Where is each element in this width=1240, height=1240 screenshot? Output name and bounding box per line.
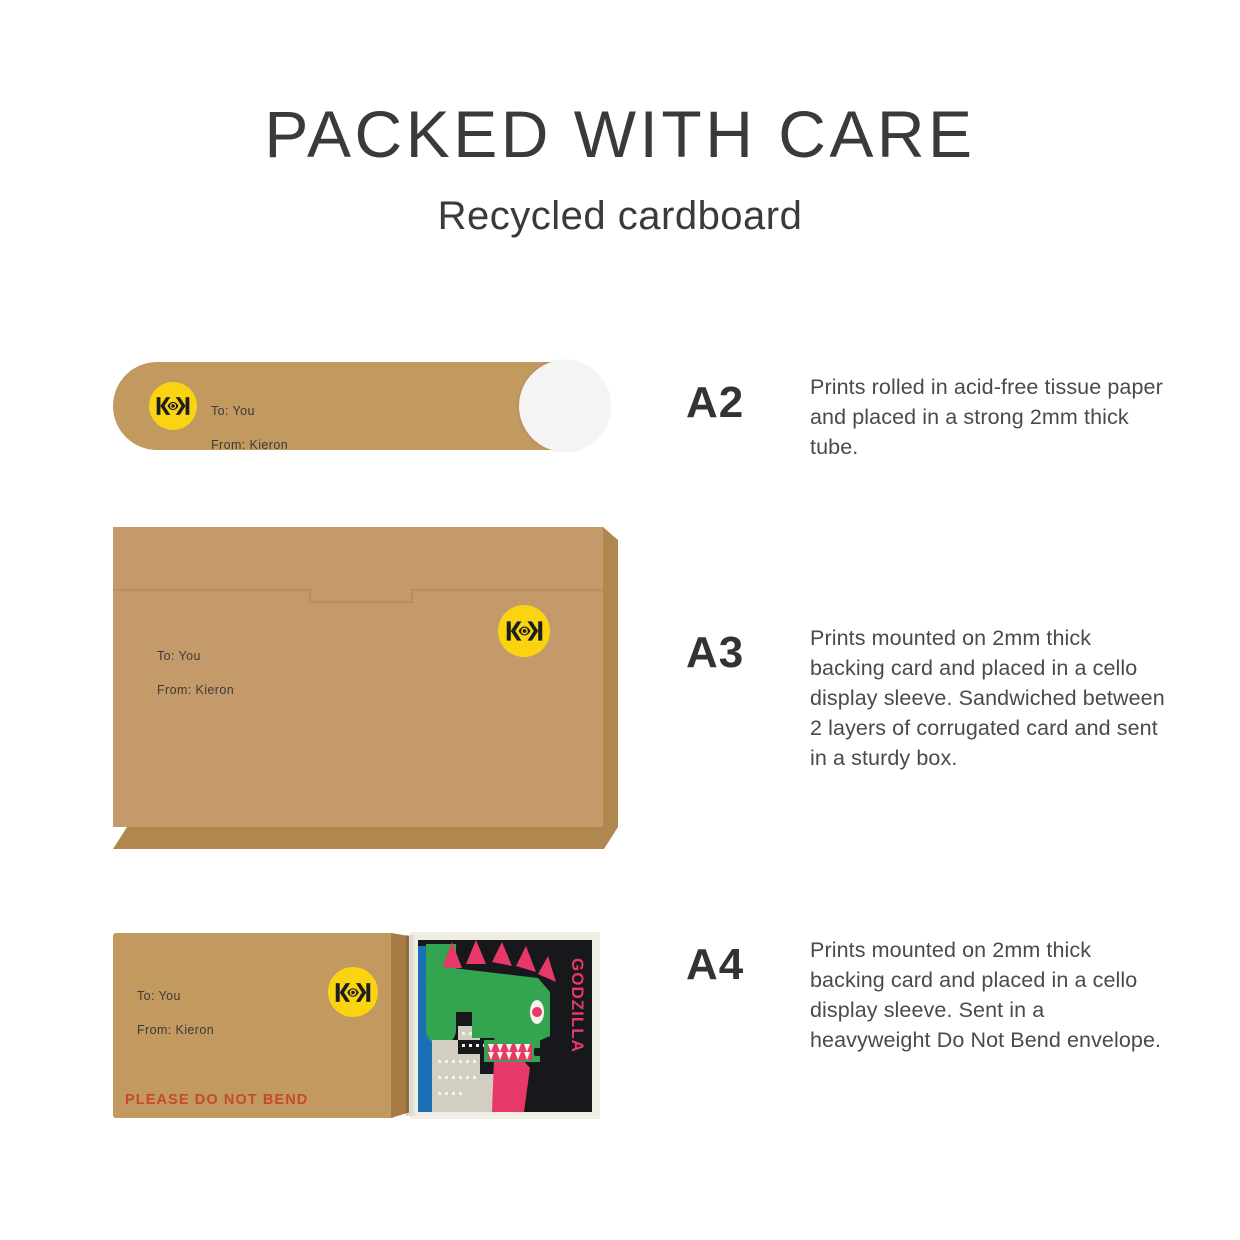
address-to: To: You (157, 649, 201, 663)
address-to: To: You (211, 404, 255, 418)
logo-sticker (328, 967, 378, 1017)
page-subtitle: Recycled cardboard (0, 172, 1240, 239)
page-title: PACKED WITH CARE (0, 0, 1240, 172)
size-label-a4: A4 (686, 940, 744, 990)
page-header: PACKED WITH CARE Recycled cardboard (0, 0, 1240, 239)
box-bottom-edge (113, 827, 618, 849)
nostril (534, 1048, 541, 1056)
envelope-drop-shadow (406, 935, 416, 1116)
do-not-bend-warning: PLEASE DO NOT BEND (125, 1092, 308, 1108)
box-flap-score-line (113, 589, 603, 603)
description-a3: Prints mounted on 2mm thick backing card… (810, 623, 1170, 773)
kok-monogram-icon (335, 981, 371, 1004)
size-label-a2: A2 (686, 378, 744, 428)
address-from: From: Kieron (211, 438, 288, 452)
logo-sticker (498, 605, 550, 657)
kok-monogram-icon (506, 619, 543, 643)
package-illustration-envelope: GODZILLA To: You From: Kieron (113, 933, 603, 1128)
godzilla-pupil (532, 1007, 542, 1017)
poster-title-text: GODZILLA (568, 958, 587, 1053)
size-label-a3: A3 (686, 628, 744, 678)
address-block-a2: To: You From: Kieron (211, 386, 288, 454)
description-a2: Prints rolled in acid-free tissue paper … (810, 372, 1170, 462)
description-a4: Prints mounted on 2mm thick backing card… (810, 935, 1170, 1055)
address-to: To: You (137, 989, 181, 1003)
address-block-a4: To: You From: Kieron (137, 971, 214, 1039)
address-block-a3: To: You From: Kieron (157, 631, 234, 699)
address-from: From: Kieron (137, 1023, 214, 1037)
kok-monogram-icon (156, 395, 190, 417)
logo-sticker (149, 382, 197, 430)
tube-end-cap (519, 360, 611, 452)
package-illustration-box: To: You From: Kieron (113, 527, 618, 852)
box-side-edge (603, 527, 618, 827)
godzilla-print: GODZILLA (418, 940, 592, 1112)
package-illustration-tube: To: You From: Kieron (113, 362, 613, 450)
address-from: From: Kieron (157, 683, 234, 697)
